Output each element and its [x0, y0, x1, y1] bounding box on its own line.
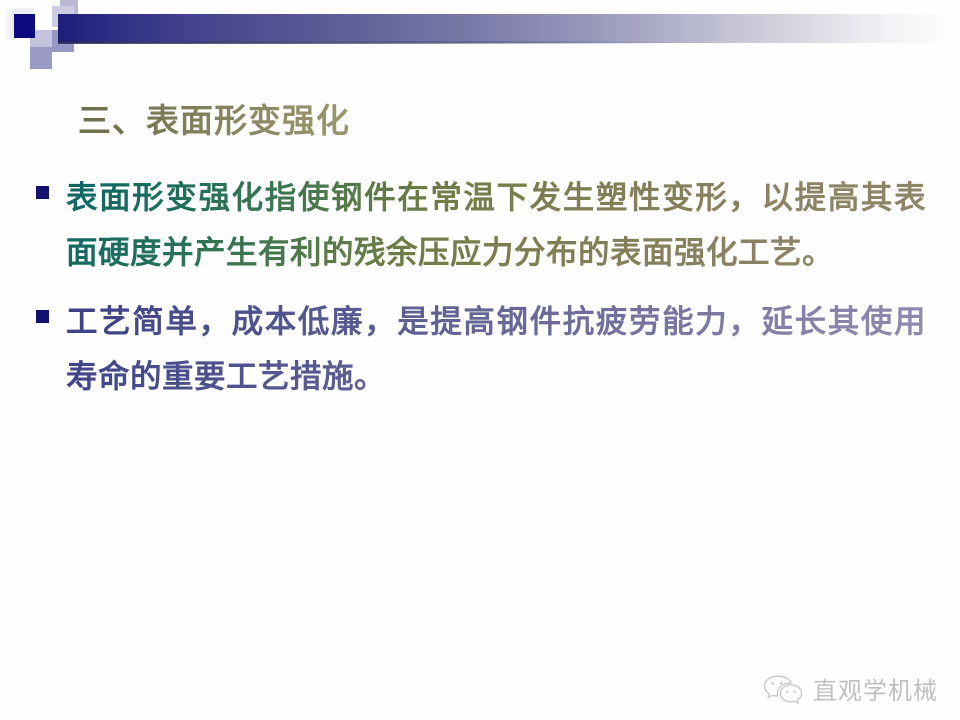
- list-item: 表面形变强化指使钢件在常温下发生塑性变形，以提高其表面硬度并产生有利的残余压应力…: [36, 170, 926, 280]
- section-title: 三、表面形变强化: [78, 94, 350, 142]
- watermark-label: 直观学机械: [813, 671, 938, 706]
- banner-accent-square: [14, 14, 35, 38]
- bullet-text-1: 表面形变强化指使钢件在常温下发生塑性变形，以提高其表面硬度并产生有利的残余压应力…: [66, 170, 926, 280]
- square-bullet-icon: [36, 186, 49, 199]
- slide-canvas: 三、表面形变强化 表面形变强化指使钢件在常温下发生塑性变形，以提高其表面硬度并产…: [0, 0, 960, 720]
- list-item: 工艺简单，成本低廉，是提高钢件抗疲劳能力，延长其使用寿命的重要工艺措施。: [36, 294, 926, 404]
- banner-bar-shadow: [58, 41, 678, 44]
- bullet-text-2: 工艺简单，成本低廉，是提高钢件抗疲劳能力，延长其使用寿命的重要工艺措施。: [66, 294, 926, 404]
- banner-square-mid-4: [30, 47, 52, 69]
- bullet-list: 表面形变强化指使钢件在常温下发生塑性变形，以提高其表面硬度并产生有利的残余压应力…: [36, 170, 926, 418]
- decorative-header-banner: [0, 0, 960, 70]
- watermark: 直观学机械: [762, 671, 938, 706]
- wechat-icon: [762, 674, 804, 704]
- square-bullet-icon: [36, 310, 49, 323]
- banner-gradient-bar: [58, 14, 960, 43]
